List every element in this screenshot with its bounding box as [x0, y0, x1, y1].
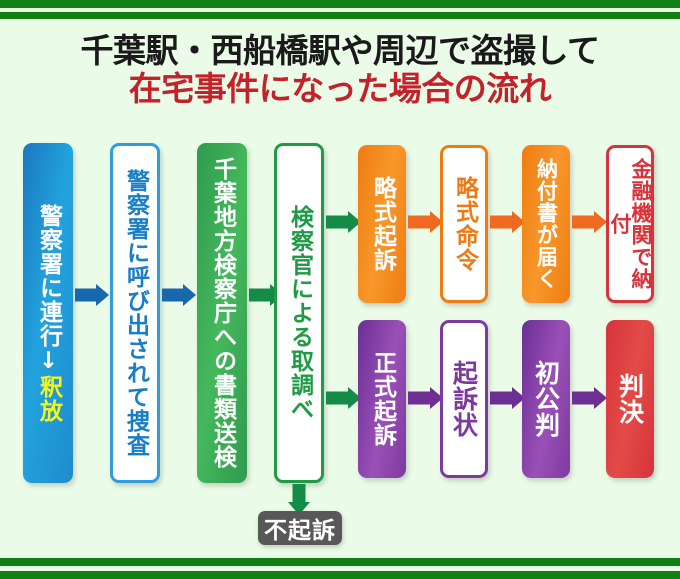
flow-box-summary-order[interactable]: 略式命令	[440, 145, 488, 303]
bottom-accent-bar-lower	[0, 571, 680, 579]
down-arrow-glyph: ↓	[37, 348, 60, 375]
flow-box-stage1-highlight: 釈放	[37, 375, 60, 423]
flow-box-top1-label: 略式起訴	[371, 176, 394, 272]
flow-box-police-summons[interactable]: 警察署に呼び出されて捜査	[110, 143, 160, 483]
flow-box-non-prosecution-label: 不起訴	[264, 511, 336, 545]
flow-box-prosecutors-office-referral[interactable]: 千葉地方検察庁への書類送検	[197, 143, 247, 483]
flow-box-payment-slip-arrives[interactable]: 納付書が届く	[522, 145, 570, 303]
bottom-accent-bar-upper	[0, 558, 680, 566]
title-line-primary: 千葉駅・西船橋駅や周辺で盗撮して	[80, 32, 599, 70]
flow-box-bottom3-label: 初公判	[534, 360, 559, 438]
flow-box-top3-label: 納付書が届く	[536, 158, 557, 290]
top-accent-bar-lower	[0, 12, 680, 19]
flow-box-formal-indictment[interactable]: 正式起訴	[358, 320, 406, 478]
flow-box-top4-label: 金融機関で納付	[609, 148, 651, 300]
flow-box-summary-indictment[interactable]: 略式起訴	[358, 145, 406, 303]
flow-box-stage4-label: 検察官による取調べ	[288, 205, 311, 421]
flow-box-bottom1-label: 正式起訴	[371, 351, 394, 447]
flow-box-non-prosecution[interactable]: 不起訴	[258, 511, 342, 545]
flow-box-stage1-label: 警察署に連行	[37, 204, 60, 348]
flow-box-bottom2-label: 起訴状	[452, 360, 477, 438]
flow-box-top2-label: 略式命令	[453, 176, 476, 272]
flow-box-verdict[interactable]: 判決	[606, 320, 654, 478]
page-title: 千葉駅・西船橋駅や周辺で盗撮して 在宅事件になった場合の流れ	[0, 20, 680, 120]
flow-box-prosecutor-interrogation[interactable]: 検察官による取調べ	[274, 143, 324, 483]
flow-box-police-transport[interactable]: 警察署に連行 ↓ 釈放	[23, 143, 73, 483]
flow-box-stage3-label: 千葉地方検察庁への書類送検	[211, 157, 234, 469]
top-accent-bar-upper	[0, 0, 680, 8]
flow-box-indictment-document[interactable]: 起訴状	[440, 320, 488, 478]
arrow-to-non-prosecution	[287, 484, 311, 514]
title-line-secondary: 在宅事件になった場合の流れ	[129, 70, 552, 108]
flow-box-bottom4-label: 判決	[618, 373, 643, 425]
flow-box-pay-at-financial-institution[interactable]: 金融機関で納付	[606, 145, 654, 303]
flow-box-stage2-label: 警察署に呼び出されて捜査	[124, 169, 147, 457]
flow-box-first-trial[interactable]: 初公判	[522, 320, 570, 478]
